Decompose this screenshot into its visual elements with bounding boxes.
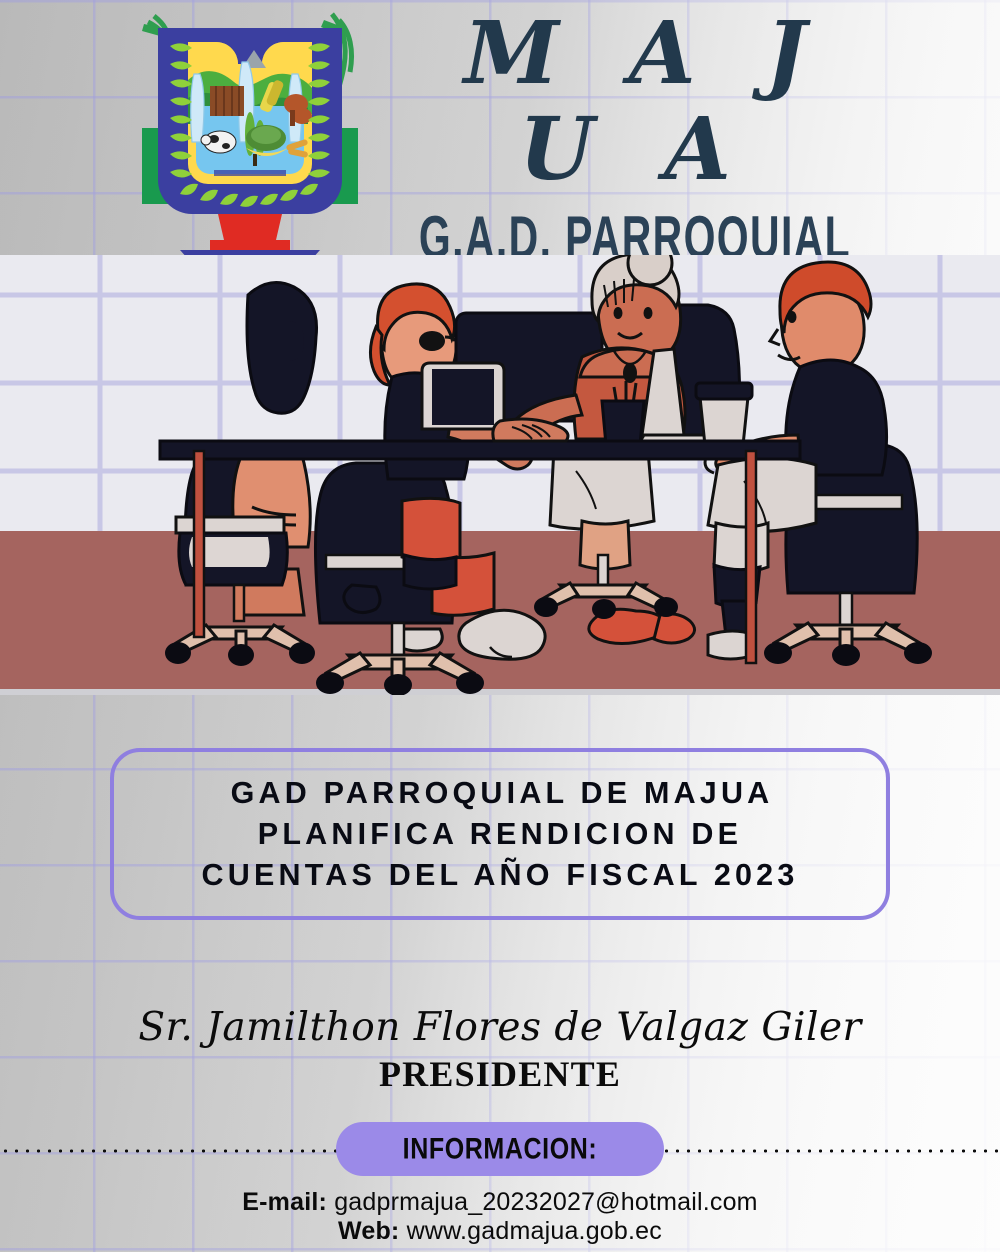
president-name: Sr. Jamilthon Flores de Valgaz Giler (0, 1005, 1000, 1051)
office-meeting-illustration (0, 255, 1000, 695)
laptop-left (422, 363, 504, 429)
header: M A J U A G.A.D. PARROQUIAL PERIODO 2023… (0, 0, 1000, 270)
information-badge: INFORMACION: (336, 1122, 664, 1176)
headline-box: GAD PARROQUIAL DE MAJUA PLANIFICA RENDIC… (110, 748, 890, 920)
information-badge-label: INFORMACION: (403, 1132, 598, 1167)
dotted-line-right (650, 1148, 1000, 1154)
president-role: PRESIDENTE (0, 1053, 1000, 1095)
web-label: Web: (338, 1217, 399, 1245)
contact-block: E-mail: gadprmajua_20232027@hotmail.com … (0, 1188, 1000, 1246)
web-row: Web: www.gadmajua.gob.ec (0, 1217, 1000, 1246)
page-title: GAD PARROQUIAL DE MAJUA PLANIFICA RENDIC… (202, 773, 799, 896)
email-row: E-mail: gadprmajua_20232027@hotmail.com (0, 1188, 1000, 1217)
signature-block: Sr. Jamilthon Flores de Valgaz Giler PRE… (0, 1005, 1000, 1095)
poster-root: M A J U A G.A.D. PARROQUIAL PERIODO 2023… (0, 0, 1000, 1252)
email-label: E-mail: (242, 1188, 327, 1216)
dotted-line-left (0, 1148, 350, 1154)
email-value[interactable]: gadprmajua_20232027@hotmail.com (334, 1188, 758, 1216)
web-value[interactable]: www.gadmajua.gob.ec (407, 1217, 662, 1245)
org-name: M A J U A (375, 6, 895, 198)
coat-of-arms-icon (136, 2, 364, 268)
